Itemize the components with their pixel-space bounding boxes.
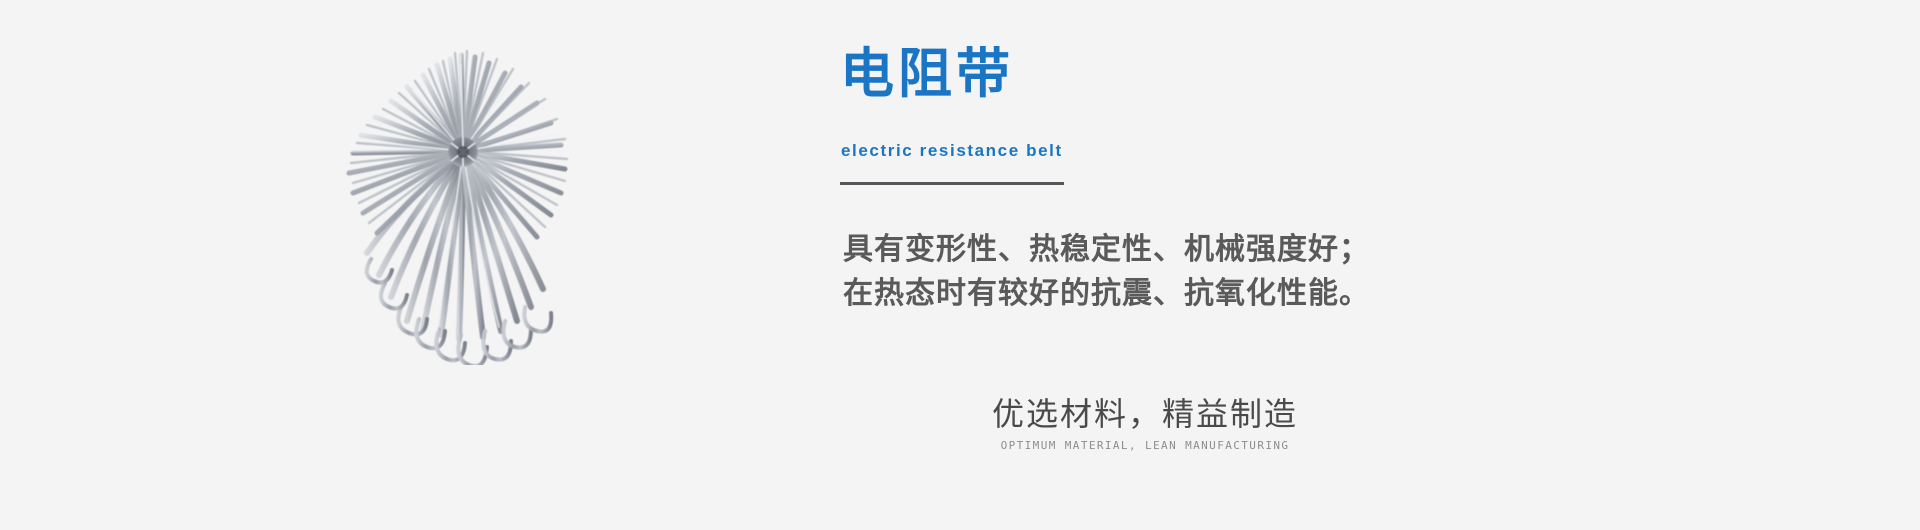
product-banner: 电阻带 electric resistance belt 具有变形性、热稳定性、… [0, 0, 1920, 530]
tagline-english: OPTIMUM MATERIAL, LEAN MANUFACTURING [935, 438, 1355, 454]
description-line-2: 在热态时有较好的抗震、抗氧化性能。 [843, 272, 1463, 316]
text-column: 电阻带 electric resistance belt 具有变形性、热稳定性、… [840, 0, 1640, 530]
description-line-1: 具有变形性、热稳定性、机械强度好； [843, 228, 1463, 272]
tagline-chinese: 优选材料，精益制造 [935, 392, 1355, 436]
tagline-block: 优选材料，精益制造 OPTIMUM MATERIAL, LEAN MANUFAC… [935, 392, 1355, 454]
page-subtitle: electric resistance belt [841, 140, 1063, 162]
page-title: 电阻带 [840, 44, 1014, 104]
product-image [295, 35, 655, 365]
title-divider [840, 182, 1064, 185]
description-block: 具有变形性、热稳定性、机械强度好； 在热态时有较好的抗震、抗氧化性能。 [843, 228, 1463, 316]
